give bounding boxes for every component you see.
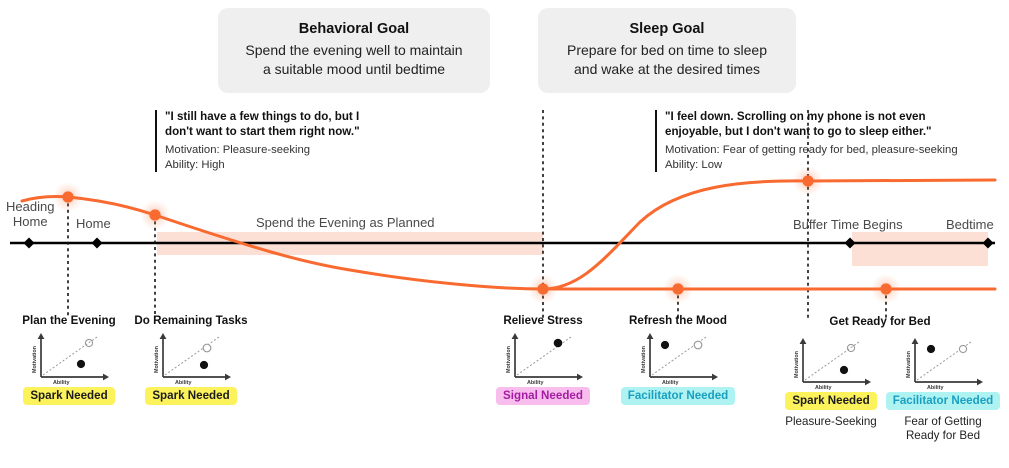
label-line1: Bedtime xyxy=(946,217,994,232)
step-relieve-stress: Relieve Stress Ability Motivation Signal… xyxy=(483,314,603,405)
status-badge: Facilitator Needed xyxy=(621,387,736,405)
goal-description-line1: Prepare for bed on time to sleep xyxy=(554,41,780,60)
quote-motivation: Motivation: Pleasure-seeking xyxy=(165,143,445,158)
label-line1: Buffer Time Begins xyxy=(793,217,903,232)
step-title: Do Remaining Tasks xyxy=(128,314,254,327)
step-note-line1: Fear of Getting xyxy=(882,415,1004,429)
fogg-behavior-chart: Ability Motivation xyxy=(789,334,873,390)
quote-line2: don't want to start them right now." xyxy=(165,125,445,140)
quote-line2: enjoyable, but I don't want to go to sle… xyxy=(665,125,1005,140)
fogg-behavior-chart: Ability Motivation xyxy=(636,329,720,385)
timeline-label-buffer-time-begins: Buffer Time Begins xyxy=(793,217,903,232)
timeline-label-spend-the-evening: Spend the Evening as Planned xyxy=(256,215,435,230)
fogg-y-axis-label: Motivation xyxy=(154,346,160,373)
step-title: Plan the Evening xyxy=(8,314,130,327)
fogg-x-axis-label: Ability xyxy=(815,385,831,390)
quote-block-evening: "I still have a few things to do, but I … xyxy=(155,110,445,172)
fogg-behavior-chart: Ability Motivation xyxy=(901,334,985,390)
timeline-label-heading-home: Heading Home xyxy=(6,200,54,229)
step-do-remaining-tasks: Do Remaining Tasks Ability Motivation Sp… xyxy=(128,314,254,405)
step-plan-the-evening: Plan the Evening Ability Motivation Spar… xyxy=(8,314,130,405)
goal-description-line1: Spend the evening well to maintain xyxy=(234,41,474,60)
step-get-ready-for-bed-spark: Ability Motivation Spark Needed Pleasure… xyxy=(772,334,890,429)
quote-ability: Ability: Low xyxy=(665,158,1005,173)
step-note: Pleasure-Seeking xyxy=(772,415,890,429)
goal-card-sleep-goal: Sleep Goal Prepare for bed on time to sl… xyxy=(538,8,796,93)
goal-description-line2: a suitable mood until bedtime xyxy=(234,60,474,79)
status-badge: Spark Needed xyxy=(785,392,876,410)
fogg-x-axis-label: Ability xyxy=(527,380,543,385)
label-line2: Home xyxy=(6,215,54,230)
band-bedtime-buffer xyxy=(852,232,988,266)
quote-motivation: Motivation: Fear of getting ready for be… xyxy=(665,143,1005,158)
step-title: Refresh the Mood xyxy=(615,314,741,327)
fogg-x-axis-label: Ability xyxy=(175,380,191,385)
fogg-behavior-chart: Ability Motivation xyxy=(27,329,111,385)
label-line1: Home xyxy=(76,216,111,231)
goal-title: Behavioral Goal xyxy=(234,20,474,38)
label-line1: Spend the Evening as Planned xyxy=(256,215,435,230)
quote-block-night: "I feel down. Scrolling on my phone is n… xyxy=(655,110,1005,172)
group-title-get-ready-for-bed: Get Ready for Bed xyxy=(780,315,980,328)
fogg-y-axis-label: Motivation xyxy=(32,346,38,373)
status-badge: Signal Needed xyxy=(496,387,590,405)
quote-line1: "I feel down. Scrolling on my phone is n… xyxy=(665,110,1005,125)
fogg-x-axis-label: Ability xyxy=(927,385,943,390)
quote-ability: Ability: High xyxy=(165,158,445,173)
status-badge: Facilitator Needed xyxy=(886,392,1001,410)
goal-card-behavioral-goal: Behavioral Goal Spend the evening well t… xyxy=(218,8,490,93)
status-badge: Spark Needed xyxy=(145,387,236,405)
goal-description-line2: and wake at the desired times xyxy=(554,60,780,79)
quote-line1: "I still have a few things to do, but I xyxy=(165,110,445,125)
step-title: Relieve Stress xyxy=(483,314,603,327)
timeline-label-bedtime: Bedtime xyxy=(946,217,994,232)
step-note-line2: Ready for Bed xyxy=(882,429,1004,443)
fogg-behavior-chart: Ability Motivation xyxy=(501,329,585,385)
fogg-y-axis-label: Motivation xyxy=(906,351,912,378)
goal-title: Sleep Goal xyxy=(554,20,780,38)
label-line1: Heading xyxy=(6,200,54,215)
fogg-x-axis-label: Ability xyxy=(53,380,69,385)
step-refresh-the-mood: Refresh the Mood Ability Motivation Faci… xyxy=(615,314,741,405)
status-badge: Spark Needed xyxy=(23,387,114,405)
fogg-behavior-chart: Ability Motivation xyxy=(149,329,233,385)
step-get-ready-for-bed-facilitator: Ability Motivation Facilitator Needed Fe… xyxy=(882,334,1004,443)
fogg-y-axis-label: Motivation xyxy=(506,346,512,373)
fogg-y-axis-label: Motivation xyxy=(641,346,647,373)
fogg-x-axis-label: Ability xyxy=(662,380,678,385)
timeline-label-home: Home xyxy=(76,216,111,231)
group-title-label: Get Ready for Bed xyxy=(829,315,930,328)
fogg-y-axis-label: Motivation xyxy=(794,351,800,378)
